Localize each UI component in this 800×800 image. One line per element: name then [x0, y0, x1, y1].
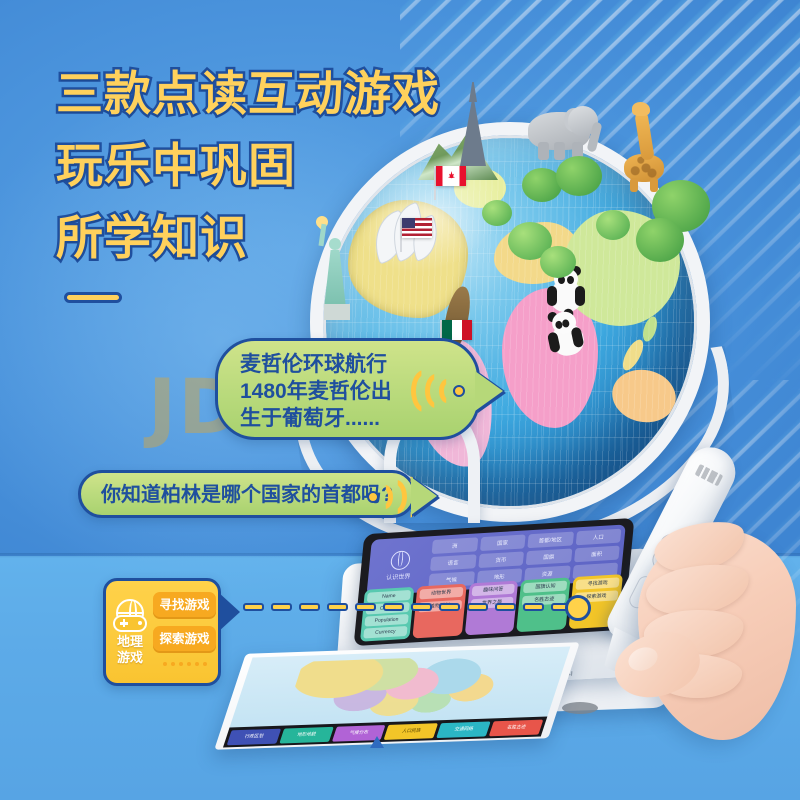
globe-gamepad-icon [113, 599, 147, 633]
map-tab[interactable]: 行政区划 [227, 728, 281, 745]
menu-item[interactable]: 货币 [478, 551, 524, 568]
menu-item[interactable]: 首都/地区 [527, 532, 573, 549]
giraffe-model [618, 112, 670, 190]
tree-model-2 [556, 156, 602, 196]
china-map-graphic [283, 654, 515, 721]
tile-label[interactable]: 动物世界 [419, 587, 463, 600]
map-card-marker-icon [370, 736, 384, 748]
speech-bubble-berlin: 你知道柏林是哪个国家的首都吗? [78, 470, 416, 518]
tile-label[interactable]: 寻找游戏 [576, 577, 620, 590]
game-card-category-line-2: 游戏 [117, 650, 143, 665]
menu-item[interactable]: 人口 [575, 529, 621, 546]
headline-line-1: 三款点读互动游戏 [56, 62, 476, 126]
bubble-tail [475, 371, 503, 411]
menu-item[interactable]: 洲 [432, 537, 478, 554]
headline-line-3: 所学知识 [56, 206, 476, 270]
device-screen[interactable]: 认识世界 洲 国家 首都/地区 人口 语言 货币 国旗 面积 气候 地形 资源 [354, 518, 635, 646]
headline-underline [64, 292, 122, 303]
menu-item[interactable]: 语言 [430, 554, 476, 571]
geography-game-card[interactable]: 地理 游戏 寻找游戏 探索游戏 [103, 578, 221, 686]
bubble-text-line-3: 生于葡萄牙...... [240, 405, 423, 432]
bush-model-3 [596, 210, 630, 240]
tile-label[interactable]: 趣味问答 [471, 584, 515, 597]
tree-model-4 [636, 218, 684, 262]
map-tab[interactable]: 名胜古迹 [489, 719, 543, 736]
map-card[interactable]: 行政区划 地形地貌 气候分布 人口民族 交通网络 名胜古迹 [214, 642, 580, 749]
menu-item[interactable]: 面积 [574, 546, 620, 563]
speech-bubble-magellan: 麦哲伦环球航行 1480年麦哲伦出 生于葡萄牙...... [215, 338, 480, 440]
game-card-icon-column: 地理 游戏 [113, 589, 147, 675]
bush-model-2 [540, 246, 576, 278]
headline-block: 三款点读互动游戏 玩乐中巩固 所学知识 [56, 62, 476, 278]
hand-holding-pen [620, 470, 800, 800]
explore-game-button[interactable]: 探索游戏 [153, 626, 216, 653]
find-game-button[interactable]: 寻找游戏 [153, 592, 216, 619]
headline-line-2: 玩乐中巩固 [56, 134, 476, 198]
tile-label[interactable]: Name [367, 590, 411, 602]
game-card-button-column: 寻找游戏 探索游戏 [153, 589, 216, 675]
game-card-arrow-icon [218, 592, 240, 632]
poster-canvas: JD.COM 京东 [0, 0, 800, 800]
map-tab[interactable]: 交通网络 [437, 721, 491, 738]
bubble-text-line-1: 麦哲伦环球航行 [240, 351, 423, 378]
device-foot [562, 702, 598, 714]
sound-wave-icon [423, 373, 467, 409]
screen-tile[interactable]: 动物世界 植物百科 [412, 584, 466, 639]
bubble-text: 你知道柏林是哪个国家的首都吗? [101, 473, 365, 518]
connector-end-dot [565, 595, 591, 621]
connector-dashed-line [243, 603, 572, 611]
bubble-text-line-2: 1480年麦哲伦出 [240, 378, 423, 405]
tile-label[interactable]: Population [364, 614, 408, 626]
bush-model-4 [482, 200, 512, 226]
map-tab[interactable]: 人口民族 [384, 723, 438, 740]
game-card-dots [163, 662, 207, 666]
bubble-tail [411, 477, 437, 515]
screen-title: 认识世界 [386, 571, 411, 581]
globe-icon [389, 550, 410, 570]
screen-tile[interactable]: Name Capital Population Currency [360, 587, 414, 642]
menu-item[interactable]: 国家 [479, 534, 525, 551]
tile-label[interactable]: Currency [363, 626, 407, 638]
tile-label[interactable]: 国旗认知 [523, 581, 567, 594]
elephant-model [518, 102, 596, 160]
sound-wave-icon [365, 479, 409, 515]
map-tab[interactable]: 地形地貌 [279, 726, 333, 743]
screen-logo: 认识世界 [371, 540, 428, 591]
game-card-category-line-1: 地理 [117, 634, 143, 649]
menu-item[interactable]: 国旗 [526, 549, 572, 566]
